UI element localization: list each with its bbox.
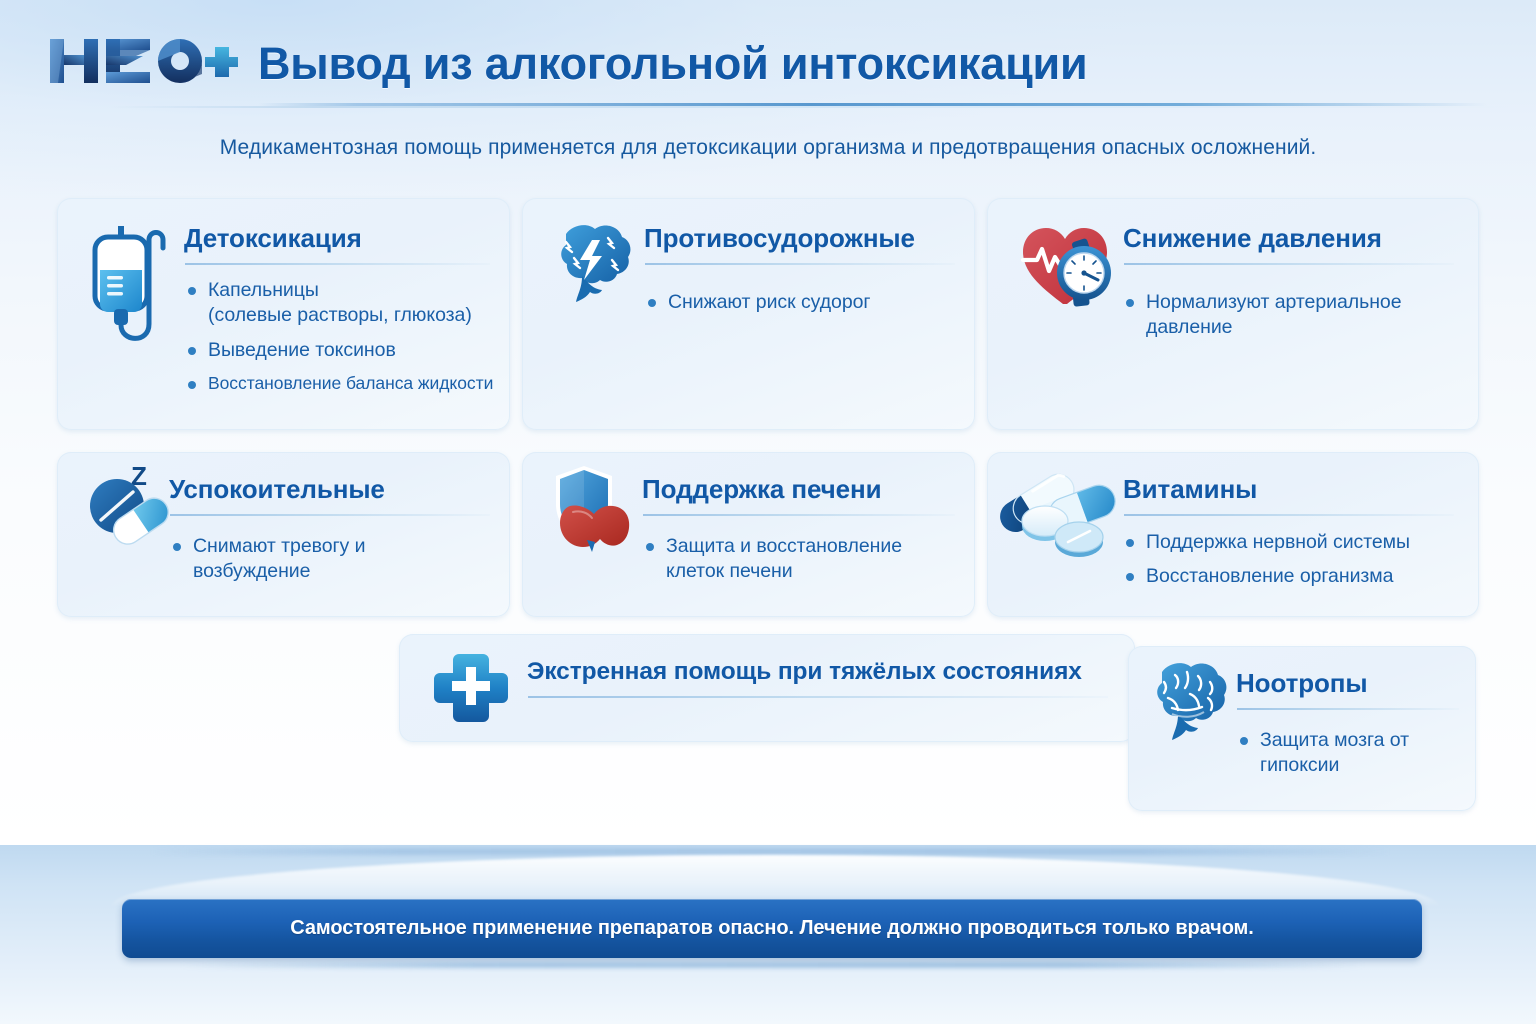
brain-lightning-icon — [546, 220, 638, 311]
bullet-text: Защита и восстановление клеток печени — [666, 535, 902, 582]
warning-banner-glow — [180, 962, 1365, 968]
card-vitamins[interactable]: Витамины Поддержка нервной системы Восст… — [987, 452, 1479, 617]
warning-banner: Самостоятельное применение препаратов оп… — [122, 899, 1422, 958]
card-title-underline — [170, 514, 490, 516]
bullet-text: Снимают тревогу и возбуждение — [193, 535, 365, 582]
list-item: Снимают тревогу и возбуждение — [167, 534, 487, 585]
card-title: Ноотропы — [1236, 668, 1368, 699]
card-title-underline — [645, 263, 955, 265]
heart-pressure-gauge-icon — [1017, 216, 1122, 321]
background-divider-line — [150, 848, 1390, 855]
medical-cross-icon — [432, 652, 510, 731]
card-title-underline — [1237, 708, 1459, 710]
list-item: Защита и восстановление клеток печени — [640, 534, 960, 585]
card-title-underline — [1124, 514, 1454, 516]
brand-logo — [48, 33, 238, 89]
list-item: Восстановление организма — [1120, 564, 1470, 589]
shield-liver-icon — [540, 460, 640, 565]
pill-sleep-icon: Z — [77, 460, 173, 557]
bullet-text: Снижают риск судорог — [668, 291, 871, 313]
page-subtitle: Медикаментозная помощь применяется для д… — [0, 136, 1536, 160]
page-header: Вывод из алкогольной интоксикации — [0, 0, 1536, 112]
card-sedatives[interactable]: Z Успокоительные Снимают тревогу и возбу… — [57, 452, 510, 617]
card-title: Снижение давления — [1123, 223, 1382, 254]
list-item: Защита мозга от гипоксии — [1234, 728, 1464, 779]
bullet-text: Восстановление организма — [1146, 565, 1393, 587]
card-emergency-help[interactable]: Экстренная помощь при тяжёлых состояниях — [399, 634, 1135, 742]
card-detoxification[interactable]: Детоксикация Капельницы (солевые раствор… — [57, 198, 510, 430]
card-liver-support[interactable]: Поддержка печени Защита и восстановление… — [522, 452, 975, 617]
card-title-underline — [528, 696, 1108, 698]
bullet-text: Выведение токсинов — [208, 339, 396, 361]
list-item: Снижают риск судорог — [642, 290, 962, 315]
list-item: Восстановление баланса жидкости — [182, 372, 502, 395]
card-title-underline — [1124, 263, 1454, 265]
pills-capsules-icon — [999, 462, 1117, 567]
card-title-underline — [185, 263, 490, 265]
card-title: Противосудорожные — [644, 223, 915, 254]
card-title-underline — [643, 514, 955, 516]
list-item: Поддержка нервной системы — [1120, 530, 1470, 555]
card-title: Поддержка печени — [642, 474, 882, 505]
bullet-text: Защита мозга от гипоксии — [1260, 729, 1409, 776]
warning-text: Самостоятельное применение препаратов оп… — [290, 917, 1253, 940]
brain-icon — [1142, 658, 1234, 749]
header-rule — [258, 103, 1488, 106]
bullet-text: Нормализуют артериальное давление — [1146, 291, 1402, 338]
header-rule-secondary — [110, 106, 1510, 108]
card-title: Экстренная помощь при тяжёлых состояниях — [527, 658, 1082, 686]
bullet-text: Капельницы — [208, 279, 319, 301]
card-title: Успокоительные — [169, 474, 385, 505]
bullet-text: Поддержка нервной системы — [1146, 531, 1410, 553]
card-anticonvulsants[interactable]: Противосудорожные Снижают риск судорог — [522, 198, 975, 430]
bullet-text: Восстановление баланса жидкости — [208, 373, 493, 393]
list-item: Капельницы (солевые растворы, глюкоза) — [182, 278, 502, 329]
list-item: Нормализуют артериальное давление — [1120, 290, 1450, 341]
page-title: Вывод из алкогольной интоксикации — [258, 38, 1087, 90]
card-title: Витамины — [1123, 474, 1257, 505]
card-nootropics[interactable]: Ноотропы Защита мозга от гипоксии — [1128, 646, 1476, 811]
infographic-canvas: Вывод из алкогольной интоксикации Медика… — [0, 0, 1536, 1024]
list-item: Выведение токсинов — [182, 338, 502, 363]
bullet-subnote: (солевые растворы, глюкоза) — [208, 303, 502, 328]
iv-drip-icon — [83, 224, 179, 351]
card-title: Детоксикация — [184, 223, 362, 254]
card-blood-pressure[interactable]: Снижение давления Нормализуют артериальн… — [987, 198, 1479, 430]
